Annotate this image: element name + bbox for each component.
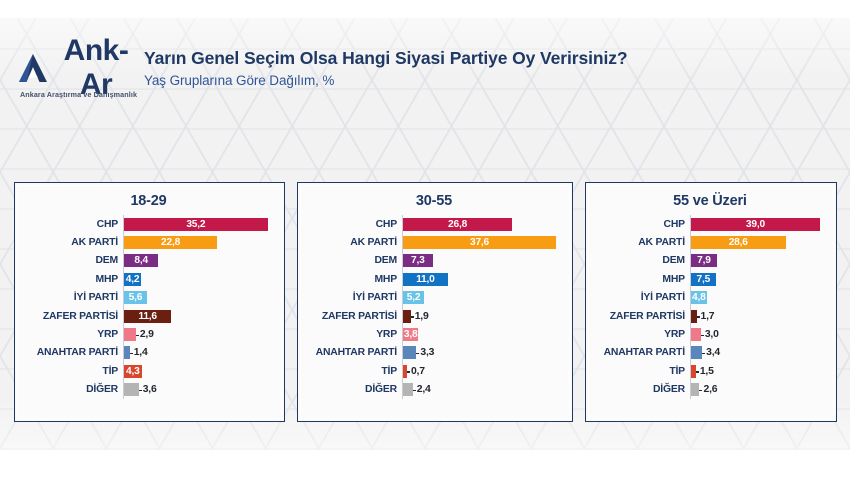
- bar[interactable]: 35,2: [124, 218, 268, 231]
- bar-row-label: ANAHTAR PARTİ: [592, 347, 690, 358]
- logo-row: Ank-Ar: [16, 48, 141, 88]
- bar-track: 2,9: [123, 325, 276, 343]
- bar[interactable]: [691, 346, 702, 359]
- bar-track: 5,6: [123, 289, 276, 307]
- bar-track: 7,5: [690, 270, 828, 288]
- bar-row: YRP2,9: [21, 325, 276, 343]
- bar-row: DEM7,3: [304, 252, 564, 270]
- bar-track: 3,8: [402, 325, 564, 343]
- bar-track: 0,7: [402, 362, 564, 380]
- bar-rows: CHP39,0AK PARTİ28,6DEM7,9MHP7,5İYİ PARTİ…: [592, 215, 828, 399]
- bar[interactable]: 7,9: [691, 254, 717, 267]
- panel-title: 18-29: [21, 193, 276, 209]
- bar-row: TİP0,7: [304, 362, 564, 380]
- bar-row: YRP3,8: [304, 325, 564, 343]
- bar-row-label: AK PARTİ: [592, 237, 690, 248]
- bar-row: İYİ PARTİ4,8: [592, 289, 828, 307]
- bar[interactable]: [403, 346, 416, 359]
- bar[interactable]: 11,6: [124, 310, 171, 323]
- bar-row: İYİ PARTİ5,6: [21, 289, 276, 307]
- bar[interactable]: 4,2: [124, 273, 141, 286]
- bar-row: DEM8,4: [21, 252, 276, 270]
- bar-value-label: 11,6: [138, 311, 156, 322]
- bar[interactable]: 5,2: [403, 291, 424, 304]
- bar[interactable]: 28,6: [691, 236, 786, 249]
- bar[interactable]: 5,6: [124, 291, 147, 304]
- bar-row: ANAHTAR PARTİ3,4: [592, 344, 828, 362]
- bar-value-label: 35,2: [186, 219, 205, 230]
- bar-row-label: MHP: [21, 274, 123, 285]
- bar-row: MHP4,2: [21, 270, 276, 288]
- bar[interactable]: 3,8: [403, 328, 418, 341]
- bar-value-label: 5,2: [407, 292, 421, 303]
- bar-track: 3,3: [402, 344, 564, 362]
- bar-row: DEM7,9: [592, 252, 828, 270]
- bar-rows: CHP26,8AK PARTİ37,6DEM7,3MHP11,0İYİ PART…: [304, 215, 564, 399]
- bar-row-label: İYİ PARTİ: [592, 292, 690, 303]
- bar-row-label: YRP: [21, 329, 123, 340]
- bar-row: ZAFER PARTİSİ1,7: [592, 307, 828, 325]
- panels-container: 18-29CHP35,2AK PARTİ22,8DEM8,4MHP4,2İYİ …: [0, 182, 850, 422]
- bar-row-label: MHP: [304, 274, 402, 285]
- chart-panel-2: 30-55CHP26,8AK PARTİ37,6DEM7,3MHP11,0İYİ…: [297, 182, 573, 422]
- brand-logo: Ank-Ar Ankara Araştırma ve Danışmanlık: [16, 48, 141, 99]
- bar-row: DİĞER3,6: [21, 381, 276, 399]
- bar-row-label: ZAFER PARTİSİ: [21, 311, 123, 322]
- bar-value-label: 3,3: [420, 347, 434, 358]
- bar-value-label: 8,4: [134, 255, 148, 266]
- bar-value-label: 7,9: [697, 255, 711, 266]
- bar-row: ZAFER PARTİSİ11,6: [21, 307, 276, 325]
- bar-row: MHP7,5: [592, 270, 828, 288]
- bar-row: YRP3,0: [592, 325, 828, 343]
- bar-row: DİĞER2,4: [304, 381, 564, 399]
- bar-row-label: ANAHTAR PARTİ: [21, 347, 123, 358]
- bar-row: İYİ PARTİ5,2: [304, 289, 564, 307]
- bar-track: 1,7: [690, 307, 828, 325]
- bar-track: 1,4: [123, 344, 276, 362]
- bar-row: MHP11,0: [304, 270, 564, 288]
- bar-row-label: DİĞER: [592, 384, 690, 395]
- bar-value-label: 2,6: [703, 384, 717, 395]
- bar[interactable]: 37,6: [403, 236, 556, 249]
- bar-row-label: AK PARTİ: [21, 237, 123, 248]
- bar-row-label: CHP: [304, 219, 402, 230]
- bar-row-label: AK PARTİ: [304, 237, 402, 248]
- bar-row-label: MHP: [592, 274, 690, 285]
- bar-value-label: 3,4: [706, 347, 720, 358]
- bar-row: AK PARTİ22,8: [21, 233, 276, 251]
- bar-row-label: DEM: [304, 255, 402, 266]
- bar-row-label: TİP: [304, 366, 402, 377]
- bar[interactable]: 4,8: [691, 291, 707, 304]
- bar-row-label: ZAFER PARTİSİ: [592, 311, 690, 322]
- bar-track: 37,6: [402, 233, 564, 251]
- bar[interactable]: 39,0: [691, 218, 820, 231]
- bar-row-label: DİĞER: [304, 384, 402, 395]
- bar[interactable]: 7,5: [691, 273, 716, 286]
- bar-row: ANAHTAR PARTİ1,4: [21, 344, 276, 362]
- bar-row: CHP39,0: [592, 215, 828, 233]
- bar-track: 5,2: [402, 289, 564, 307]
- bar-row-label: DEM: [592, 255, 690, 266]
- bar-value-label: 28,6: [729, 237, 748, 248]
- infographic-root: Ank-Ar Ankara Araştırma ve Danışmanlık Y…: [0, 0, 850, 478]
- bar-row-label: CHP: [592, 219, 690, 230]
- bar-row-label: YRP: [592, 329, 690, 340]
- bar-track: 3,4: [690, 344, 828, 362]
- bar-value-label: 3,6: [143, 384, 157, 395]
- bar-value-label: 2,9: [140, 329, 154, 340]
- bar-track: 4,2: [123, 270, 276, 288]
- bar-row: CHP26,8: [304, 215, 564, 233]
- bar-track: 3,0: [690, 325, 828, 343]
- bar-row: ANAHTAR PARTİ3,3: [304, 344, 564, 362]
- bar-track: 8,4: [123, 252, 276, 270]
- bar[interactable]: 22,8: [124, 236, 217, 249]
- bar-row-label: İYİ PARTİ: [21, 292, 123, 303]
- bar-track: 26,8: [402, 215, 564, 233]
- bar-row-label: TİP: [21, 366, 123, 377]
- bar-track: 39,0: [690, 215, 828, 233]
- bar-track: 4,8: [690, 289, 828, 307]
- bar[interactable]: [124, 328, 136, 341]
- bar-track: 28,6: [690, 233, 828, 251]
- ankar-chevron-logo-icon: [16, 51, 50, 85]
- bar-value-label: 39,0: [746, 219, 765, 230]
- bar-row: ZAFER PARTİSİ1,9: [304, 307, 564, 325]
- bar[interactable]: 4,3: [124, 365, 142, 378]
- bar[interactable]: [691, 383, 700, 396]
- bar-row-label: DİĞER: [21, 384, 123, 395]
- bar-value-label: 7,5: [697, 274, 711, 285]
- bar-row-label: ANAHTAR PARTİ: [304, 347, 402, 358]
- bar-value-label: 2,4: [417, 384, 431, 395]
- bar[interactable]: 7,3: [403, 254, 433, 267]
- panel-title: 30-55: [304, 193, 564, 209]
- bar-row-label: İYİ PARTİ: [304, 292, 402, 303]
- header: Ank-Ar Ankara Araştırma ve Danışmanlık Y…: [0, 26, 850, 116]
- bar-track: 2,4: [402, 381, 564, 399]
- bar-track: 1,5: [690, 362, 828, 380]
- bar[interactable]: [124, 383, 139, 396]
- bar-row-label: CHP: [21, 219, 123, 230]
- bar-value-label: 5,6: [129, 292, 143, 303]
- bar-row-label: TİP: [592, 366, 690, 377]
- bar-value-label: 1,7: [701, 311, 715, 322]
- bar-track: 7,9: [690, 252, 828, 270]
- bar-track: 1,9: [402, 307, 564, 325]
- bar-value-label: 3,0: [705, 329, 719, 340]
- bar-row: TİP1,5: [592, 362, 828, 380]
- chart-panel-1: 18-29CHP35,2AK PARTİ22,8DEM8,4MHP4,2İYİ …: [14, 182, 285, 422]
- title-block: Yarın Genel Seçim Olsa Hangi Siyasi Part…: [144, 48, 627, 88]
- bar-value-label: 4,3: [126, 366, 140, 377]
- brand-tagline: Ankara Araştırma ve Danışmanlık: [16, 90, 141, 99]
- bar-value-label: 3,8: [404, 329, 418, 340]
- bar[interactable]: 26,8: [403, 218, 512, 231]
- chart-panel-3: 55 ve ÜzeriCHP39,0AK PARTİ28,6DEM7,9MHP7…: [585, 182, 837, 422]
- bar-value-label: 0,7: [411, 366, 425, 377]
- bar-row-label: DEM: [21, 255, 123, 266]
- bar[interactable]: [691, 328, 701, 341]
- bar-track: 22,8: [123, 233, 276, 251]
- bar-row: AK PARTİ28,6: [592, 233, 828, 251]
- bar-value-label: 7,3: [411, 255, 425, 266]
- bar-value-label: 22,8: [161, 237, 180, 248]
- bar-value-label: 4,8: [692, 292, 706, 303]
- bar-track: 2,6: [690, 381, 828, 399]
- bar-value-label: 1,9: [415, 311, 429, 322]
- bar-row-label: ZAFER PARTİSİ: [304, 311, 402, 322]
- bar-track: 4,3: [123, 362, 276, 380]
- bar[interactable]: [403, 383, 413, 396]
- panel-title: 55 ve Üzeri: [592, 193, 828, 209]
- bar-track: 7,3: [402, 252, 564, 270]
- bar-row-label: YRP: [304, 329, 402, 340]
- page-subtitle: Yaş Gruplarına Göre Dağılım, %: [144, 73, 627, 88]
- bar-row: AK PARTİ37,6: [304, 233, 564, 251]
- bar[interactable]: 11,0: [403, 273, 448, 286]
- bar-value-label: 37,6: [470, 237, 489, 248]
- bar-value-label: 1,5: [700, 366, 714, 377]
- bar-value-label: 11,0: [416, 274, 434, 285]
- bar-track: 35,2: [123, 215, 276, 233]
- bar[interactable]: 8,4: [124, 254, 158, 267]
- bar-rows: CHP35,2AK PARTİ22,8DEM8,4MHP4,2İYİ PARTİ…: [21, 215, 276, 399]
- bar-value-label: 26,8: [448, 219, 467, 230]
- bar[interactable]: [403, 310, 411, 323]
- bar-row: CHP35,2: [21, 215, 276, 233]
- bar-row: DİĞER2,6: [592, 381, 828, 399]
- bar-row: TİP4,3: [21, 362, 276, 380]
- bar-value-label: 4,2: [126, 274, 140, 285]
- bar-track: 3,6: [123, 381, 276, 399]
- bar-track: 11,6: [123, 307, 276, 325]
- bar-track: 11,0: [402, 270, 564, 288]
- page-title: Yarın Genel Seçim Olsa Hangi Siyasi Part…: [144, 48, 627, 69]
- bar-value-label: 1,4: [134, 347, 148, 358]
